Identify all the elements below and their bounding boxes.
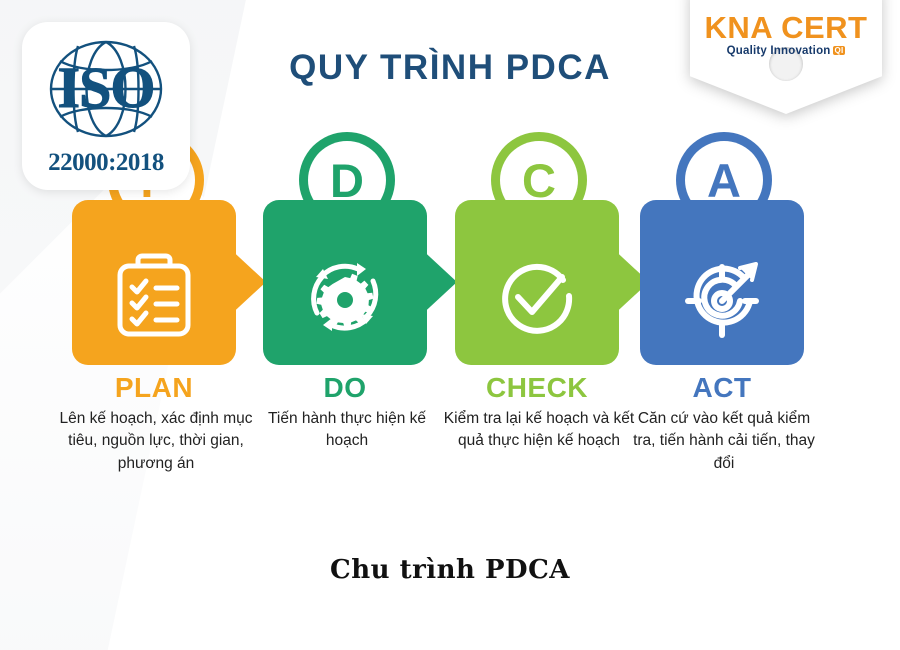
- stage-check-description: Kiểm tra lại kế hoạch và kết quả thực hi…: [441, 408, 637, 453]
- check-circle-icon: [487, 246, 587, 346]
- kna-brand-name: KNA CERT: [690, 10, 882, 46]
- stage-act-title: ACT: [630, 372, 814, 404]
- stage-plan-description: Lên kế hoạch, xác định mục tiêu, nguồn l…: [58, 408, 254, 475]
- stage-do-title: DO: [253, 372, 437, 404]
- kna-tagline: Quality InnovationQI: [690, 45, 882, 57]
- iso-standard-number: 22000:2018: [48, 149, 164, 177]
- kna-tagline-badge: QI: [833, 46, 846, 55]
- stage-plan-title: PLAN: [62, 372, 246, 404]
- kna-tagline-text: Quality Innovation: [727, 45, 831, 57]
- bottom-caption: Chu trình PDCA: [0, 555, 900, 585]
- stage-check-title: CHECK: [445, 372, 629, 404]
- iso-badge: ISO 22000:2018: [22, 22, 190, 190]
- globe-icon: ISO: [40, 35, 172, 143]
- target-arrow-icon: [672, 246, 772, 346]
- iso-wordmark: ISO: [58, 59, 155, 117]
- kna-cert-logo[interactable]: KNA CERT Quality InnovationQI: [690, 0, 882, 114]
- stage-act-description: Căn cứ vào kết quả kiểm tra, tiến hành c…: [626, 408, 822, 475]
- stage-do-description: Tiến hành thực hiện kế hoạch: [249, 408, 445, 453]
- gear-cycle-icon: [295, 246, 395, 346]
- clipboard-checklist-icon: [104, 246, 204, 346]
